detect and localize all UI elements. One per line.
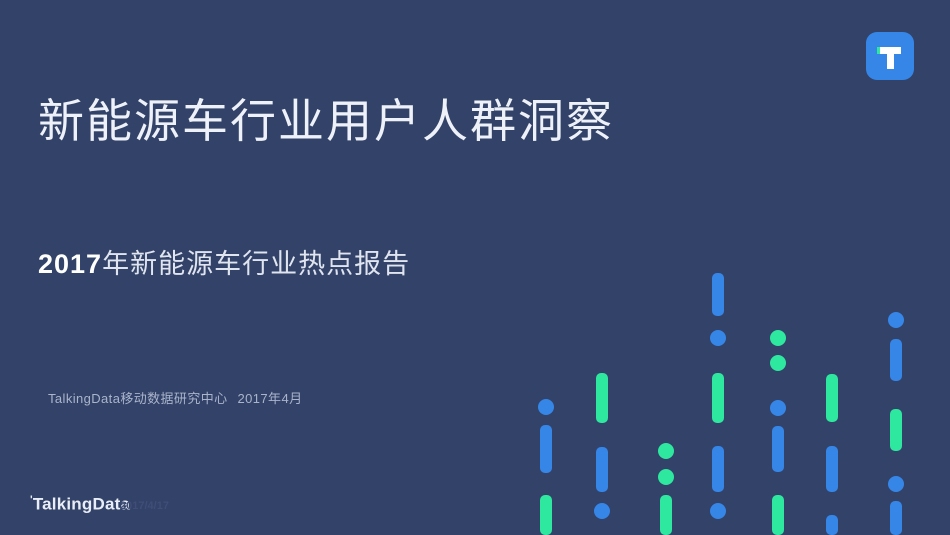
decoration-bar bbox=[826, 374, 838, 422]
presentation-title-slide: 新能源车行业用户人群洞察 2017年新能源车行业热点报告 TalkingData… bbox=[0, 0, 950, 535]
decoration-bar bbox=[826, 515, 838, 535]
decoration-dot bbox=[888, 476, 904, 492]
decoration-dot bbox=[658, 443, 674, 459]
footer-watermark: 2017/4/17 bbox=[120, 500, 169, 512]
decoration-bar bbox=[826, 446, 838, 492]
decoration-bar bbox=[772, 495, 784, 535]
decoration-dot bbox=[770, 355, 786, 371]
decoration-dot bbox=[710, 330, 726, 346]
decoration-bar bbox=[596, 447, 608, 492]
subtitle-year: 2017 bbox=[38, 249, 102, 279]
decoration-bar bbox=[890, 501, 902, 535]
byline: TalkingData移动数据研究中心2017年4月 bbox=[48, 388, 302, 407]
decoration-bar bbox=[660, 495, 672, 535]
decoration-dot bbox=[888, 312, 904, 328]
decoration-bar bbox=[890, 409, 902, 451]
decoration-bar bbox=[712, 446, 724, 492]
decoration-dot bbox=[770, 400, 786, 416]
decoration-dot bbox=[594, 503, 610, 519]
decoration-bar bbox=[712, 273, 724, 316]
decoration-bar bbox=[540, 425, 552, 473]
decoration-dot bbox=[538, 399, 554, 415]
decoration-dot bbox=[710, 503, 726, 519]
byline-date: 2017年4月 bbox=[238, 391, 303, 406]
decoration-bar bbox=[596, 373, 608, 423]
decoration-bar bbox=[540, 495, 552, 535]
footer-wordmark-text: TalkingData bbox=[33, 495, 130, 514]
byline-organization: TalkingData移动数据研究中心 bbox=[48, 391, 228, 406]
page-subtitle: 2017年新能源车行业热点报告 bbox=[38, 248, 410, 280]
decoration-bar bbox=[712, 373, 724, 423]
subtitle-text: 年新能源车行业热点报告 bbox=[102, 249, 410, 279]
footer-wordmark: 'TalkingData bbox=[30, 494, 130, 515]
logo-t-stem bbox=[887, 47, 894, 69]
decoration-dot bbox=[658, 469, 674, 485]
decoration-dot bbox=[770, 330, 786, 346]
page-title: 新能源车行业用户人群洞察 bbox=[38, 95, 614, 148]
talkingdata-logo-icon bbox=[866, 32, 914, 80]
decoration-bar bbox=[890, 339, 902, 381]
decoration-bar bbox=[772, 426, 784, 472]
